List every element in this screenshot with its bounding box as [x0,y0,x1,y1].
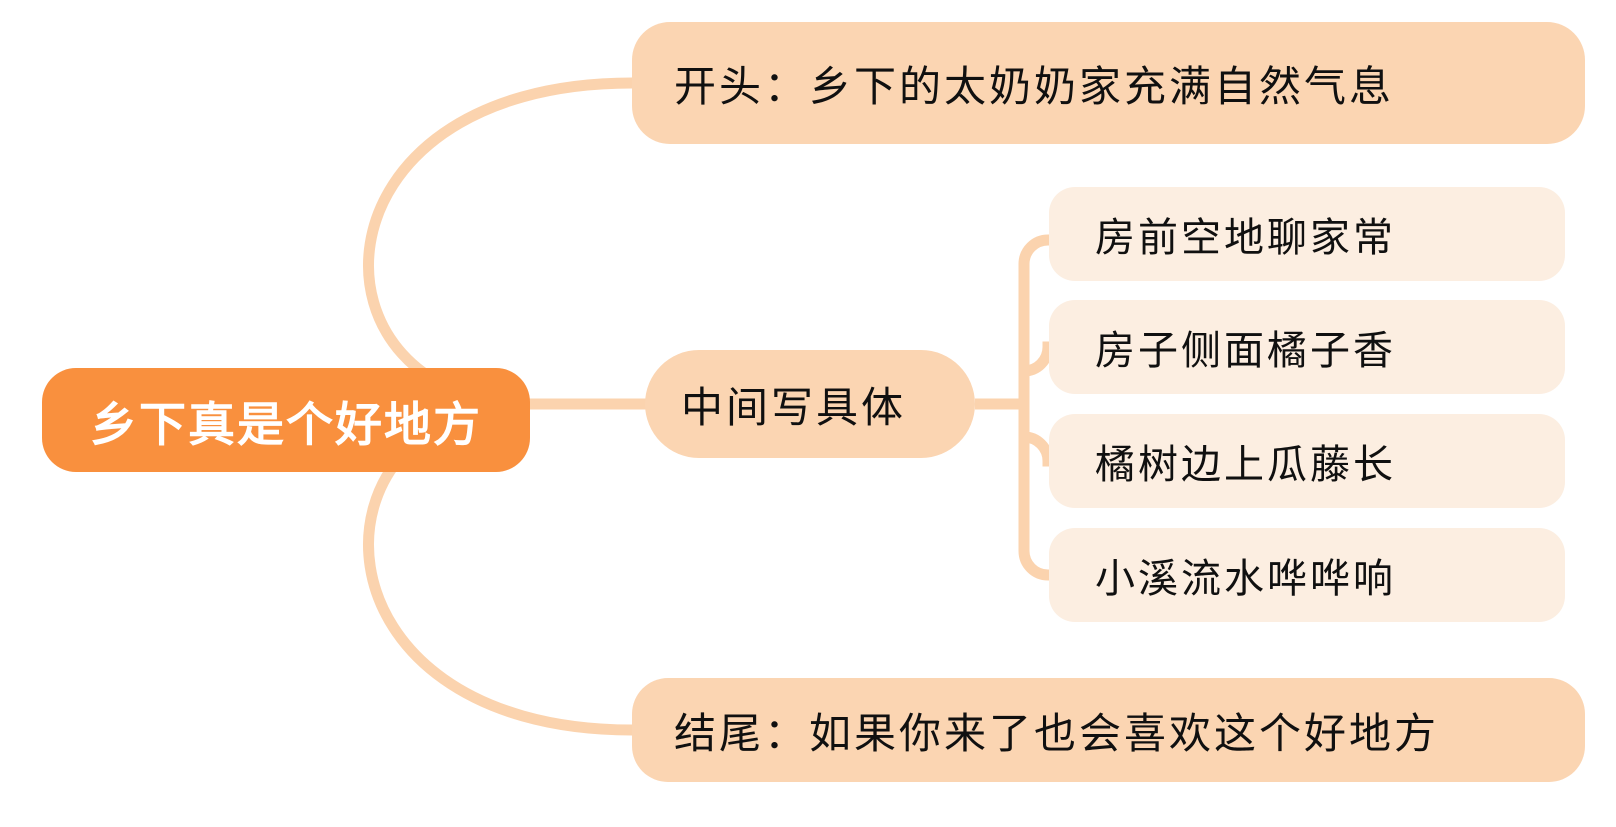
leaf-node-4-label: 小溪流水哗哗响 [1095,546,1565,604]
branch-node-closing-label: 结尾：如果你来了也会喜欢这个好地方 [674,700,1585,761]
branch-node-middle-label: 中间写具体 [681,374,975,435]
mindmap-canvas: 乡下真是个好地方 开头：乡下的太奶奶家充满自然气息 中间写具体 结尾：如果你来了… [0,0,1616,827]
connector-root-to-top [369,83,632,404]
leaf-node-2[interactable]: 房子侧面橘子香 [1049,300,1565,394]
leaf-node-4[interactable]: 小溪流水哗哗响 [1049,528,1565,622]
leaf-node-3-label: 橘树边上瓜藤长 [1095,432,1565,490]
leaf-node-3[interactable]: 橘树边上瓜藤长 [1049,414,1565,508]
leaf-node-1-label: 房前空地聊家常 [1095,205,1565,263]
leaf-node-1[interactable]: 房前空地聊家常 [1049,187,1565,281]
branch-node-closing[interactable]: 结尾：如果你来了也会喜欢这个好地方 [632,678,1585,782]
root-node[interactable]: 乡下真是个好地方 [42,368,530,472]
branch-node-opening-label: 开头：乡下的太奶奶家充满自然气息 [674,53,1585,114]
leaf-node-2-label: 房子侧面橘子香 [1095,318,1565,376]
branch-node-middle[interactable]: 中间写具体 [645,350,975,458]
branch-node-opening[interactable]: 开头：乡下的太奶奶家充满自然气息 [632,22,1585,144]
root-node-label: 乡下真是个好地方 [42,386,530,455]
